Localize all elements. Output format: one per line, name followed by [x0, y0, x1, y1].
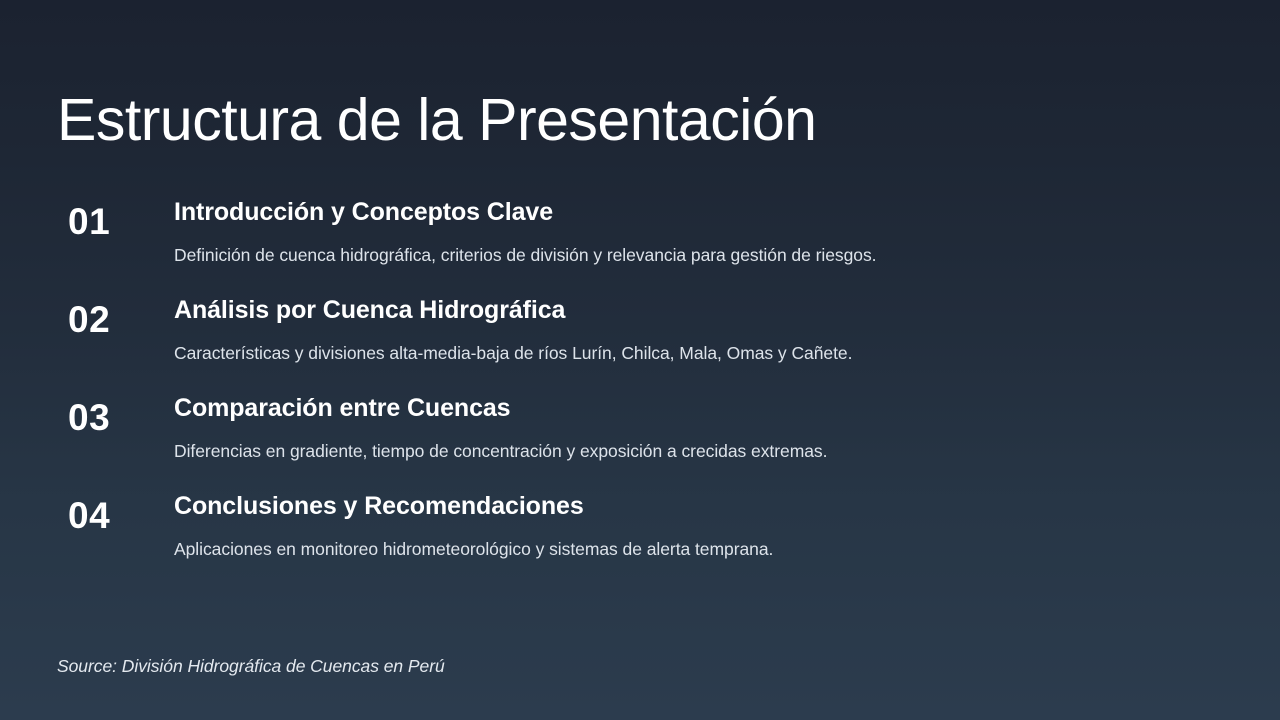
item-description: Definición de cuenca hidrográfica, crite… [174, 244, 1227, 267]
presentation-slide: Estructura de la Presentación 01 Introdu… [0, 0, 1280, 720]
item-number: 04 [68, 497, 164, 534]
item-body: Introducción y Conceptos Clave Definició… [174, 197, 1227, 267]
list-item[interactable]: 01 Introducción y Conceptos Clave Defini… [57, 197, 1227, 295]
page-title: Estructura de la Presentación [57, 87, 816, 155]
item-description: Aplicaciones en monitoreo hidrometeoroló… [174, 538, 1227, 561]
item-number: 03 [68, 399, 164, 436]
item-body: Conclusiones y Recomendaciones Aplicacio… [174, 491, 1227, 561]
list-item[interactable]: 04 Conclusiones y Recomendaciones Aplica… [57, 491, 1227, 589]
agenda-list: 01 Introducción y Conceptos Clave Defini… [57, 197, 1227, 589]
list-item[interactable]: 03 Comparación entre Cuencas Diferencias… [57, 393, 1227, 491]
item-number: 01 [68, 203, 164, 240]
item-description: Diferencias en gradiente, tiempo de conc… [174, 440, 1227, 463]
item-body: Comparación entre Cuencas Diferencias en… [174, 393, 1227, 463]
item-body: Análisis por Cuenca Hidrográfica Caracte… [174, 295, 1227, 365]
item-description: Características y divisiones alta-media-… [174, 342, 1227, 365]
item-heading: Comparación entre Cuencas [174, 393, 1227, 424]
item-number: 02 [68, 301, 164, 338]
item-heading: Introducción y Conceptos Clave [174, 197, 1227, 228]
source-note: Source: División Hidrográfica de Cuencas… [57, 656, 445, 677]
item-heading: Conclusiones y Recomendaciones [174, 491, 1227, 522]
list-item[interactable]: 02 Análisis por Cuenca Hidrográfica Cara… [57, 295, 1227, 393]
item-heading: Análisis por Cuenca Hidrográfica [174, 295, 1227, 326]
